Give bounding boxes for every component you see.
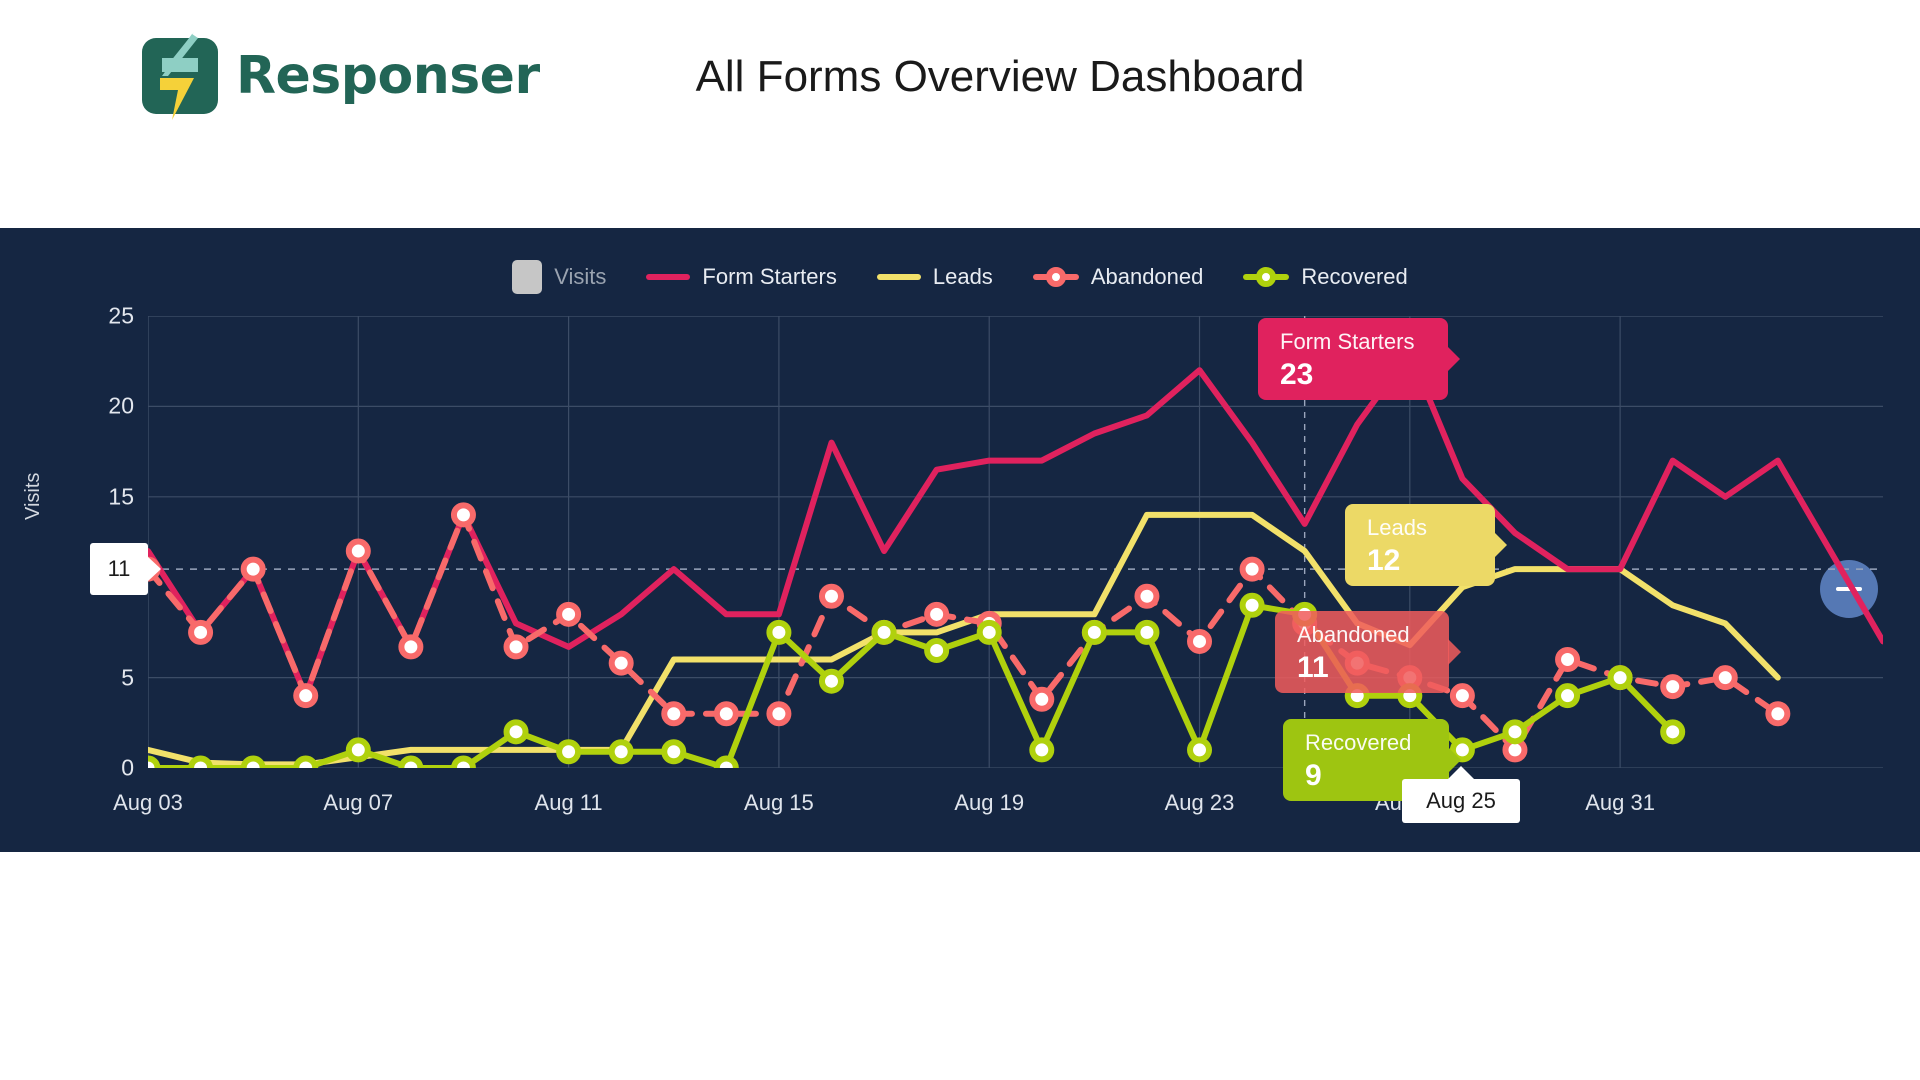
data-point-abandoned[interactable] [401,637,420,656]
x-axis-ticks: Aug 03Aug 07Aug 11Aug 15Aug 19Aug 23Aug … [0,790,1920,830]
data-point-recovered[interactable] [927,641,946,660]
data-point-abandoned[interactable] [927,605,946,624]
data-point-recovered[interactable] [1611,668,1630,687]
data-point-recovered[interactable] [191,759,210,769]
tooltip-value: 12 [1367,544,1473,577]
legend-label: Recovered [1301,264,1407,290]
tooltip-value: 23 [1280,358,1426,391]
legend-swatch-line-icon [646,274,690,280]
data-point-recovered[interactable] [1505,722,1524,741]
y-axis-ticks: 05152025 [64,316,134,768]
lightning-bolt-icon [142,38,218,114]
x-axis-tick: Aug 23 [1165,790,1235,816]
data-point-recovered[interactable] [664,742,683,761]
tooltip-label: Leads [1367,516,1473,540]
data-point-recovered[interactable] [1558,686,1577,705]
data-point-recovered[interactable] [454,759,473,769]
data-point-recovered[interactable] [875,623,894,642]
legend-item-visits[interactable]: Visits [512,260,606,294]
data-point-abandoned[interactable] [349,542,368,561]
data-point-recovered[interactable] [349,740,368,759]
data-point-abandoned[interactable] [1190,632,1209,651]
data-point-abandoned[interactable] [1558,650,1577,669]
data-point-abandoned[interactable] [244,560,263,579]
data-point-recovered[interactable] [980,623,999,642]
data-point-abandoned[interactable] [822,587,841,606]
legend-item-leads[interactable]: Leads [877,264,993,290]
tooltip-label: Form Starters [1280,330,1426,354]
data-point-abandoned[interactable] [191,623,210,642]
data-point-recovered[interactable] [148,759,158,769]
legend-label: Form Starters [702,264,836,290]
legend-label: Leads [933,264,993,290]
y-axis-tick: 25 [74,303,134,330]
tooltip-abandoned: Abandoned 11 [1275,611,1449,693]
series-line-abandoned [148,515,1778,750]
data-point-recovered[interactable] [1137,623,1156,642]
data-point-abandoned[interactable] [664,704,683,723]
data-point-recovered[interactable] [1085,623,1104,642]
data-point-abandoned[interactable] [1768,704,1787,723]
x-axis-tick: Aug 19 [954,790,1024,816]
legend-swatch-line-icon [877,274,921,280]
data-point-abandoned[interactable] [296,686,315,705]
data-point-recovered[interactable] [244,759,263,769]
data-point-recovered[interactable] [296,759,315,769]
data-point-abandoned[interactable] [1137,587,1156,606]
tooltip-leads: Leads 12 [1345,504,1495,586]
data-point-recovered[interactable] [1663,722,1682,741]
page-header: Responser All Forms Overview Dashboard [0,0,1920,228]
legend-swatch-marker-icon [1243,266,1289,288]
x-axis-tick: Aug 15 [744,790,814,816]
data-point-abandoned[interactable] [559,605,578,624]
data-point-abandoned[interactable] [454,505,473,524]
dashboard-page: Responser All Forms Overview Dashboard V… [0,0,1920,1080]
data-point-abandoned[interactable] [717,704,736,723]
page-title: All Forms Overview Dashboard [500,52,1500,102]
data-point-recovered[interactable] [1190,740,1209,759]
data-point-abandoned[interactable] [1243,560,1262,579]
data-point-abandoned[interactable] [769,704,788,723]
data-point-abandoned[interactable] [612,654,631,673]
y-axis-tick: 5 [74,664,134,691]
brand: Responser [142,38,540,114]
tooltip-value: 11 [1297,651,1427,684]
legend-label: Abandoned [1091,264,1204,290]
y-axis-tick: 0 [74,755,134,782]
x-axis-tick: Aug 31 [1585,790,1655,816]
data-point-abandoned[interactable] [1716,668,1735,687]
crosshair-x-tooltip: Aug 25 [1402,779,1520,823]
legend-swatch-box-icon [512,260,542,294]
x-axis-tick: Aug 11 [535,790,603,816]
crosshair-y-badge: 11 [90,543,148,595]
y-axis-tick: 20 [74,393,134,420]
chart-svg [148,316,1883,768]
legend-swatch-marker-icon [1033,266,1079,288]
y-axis-label: Visits [22,473,45,520]
legend-item-form-starters[interactable]: Form Starters [646,264,836,290]
data-point-recovered[interactable] [559,742,578,761]
brand-name: Responser [236,50,540,102]
data-point-abandoned[interactable] [507,637,526,656]
data-point-recovered[interactable] [507,722,526,741]
y-axis-tick: 15 [74,483,134,510]
legend-item-abandoned[interactable]: Abandoned [1033,264,1204,290]
data-point-abandoned[interactable] [1663,677,1682,696]
x-axis-tick: Aug 03 [113,790,183,816]
legend-item-recovered[interactable]: Recovered [1243,264,1407,290]
page-title-wrap: All Forms Overview Dashboard [500,52,1500,102]
data-point-recovered[interactable] [401,759,420,769]
tooltip-label: Abandoned [1297,623,1427,647]
tooltip-label: Recovered [1305,731,1427,755]
chart-legend: VisitsForm StartersLeadsAbandonedRecover… [0,260,1920,294]
data-point-recovered[interactable] [717,759,736,769]
data-point-abandoned[interactable] [1453,686,1472,705]
x-axis-tick: Aug 07 [323,790,393,816]
data-point-recovered[interactable] [1032,740,1051,759]
legend-label: Visits [554,264,606,290]
data-point-abandoned[interactable] [1032,690,1051,709]
data-point-recovered[interactable] [822,672,841,691]
plot-area [148,316,1883,768]
data-point-recovered[interactable] [1243,596,1262,615]
data-point-recovered[interactable] [769,623,788,642]
tooltip-form-starters: Form Starters 23 [1258,318,1448,400]
data-point-recovered[interactable] [612,742,631,761]
